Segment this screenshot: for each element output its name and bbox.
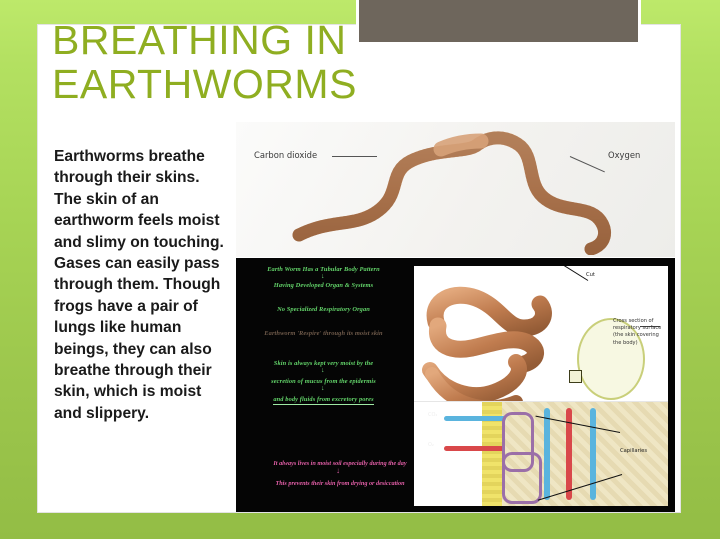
down-arrow-icon-2: ↓: [321, 368, 325, 373]
down-arrow-icon-4: ↓: [336, 468, 340, 474]
diagram-line-2: Having Developed Organ & Systems: [236, 282, 411, 289]
capillary-blue-1: [544, 408, 550, 500]
earthworm-illustration-top: [291, 127, 621, 255]
diagram-line-5: Skin is always kept very moist by the: [236, 360, 411, 367]
diagram-line-7: and body fluids from excretory pores: [236, 396, 411, 403]
oxygen-vessel-inbound: [444, 416, 506, 421]
presentation-slide: BREATHING IN EARTHWORMS Earthworms breat…: [0, 0, 720, 539]
earthworm-gas-exchange-image: Carbon dioxide Oxygen: [236, 122, 675, 257]
earthworm-respiration-diagram: Earth Worm Has a Tubular Body Pattern ↓ …: [236, 258, 675, 512]
magnified-region-marker: [569, 370, 582, 383]
diagram-pink-line-1: It always lives in moist soil especially…: [240, 460, 440, 467]
capillary-loop-2: [502, 452, 542, 504]
co2-label: CO₂: [428, 412, 437, 418]
down-arrow-icon-3: ↓: [321, 386, 325, 391]
capillary-blue-2: [590, 408, 596, 500]
down-arrow-icon-1: ↓: [321, 274, 325, 279]
respiration-inset-lower: CO₂ O₂ Capillaries: [414, 401, 668, 506]
capillaries-label: Capillaries: [620, 448, 647, 454]
diagram-line-3: No Specialized Respiratory Organ: [236, 306, 411, 313]
cross-section-label: Cross section of respiratory surface (th…: [613, 318, 665, 347]
body-paragraph: Earthworms breathe through their skins. …: [54, 146, 230, 424]
diagram-line-1: Earth Worm Has a Tubular Body Pattern: [236, 266, 411, 273]
cut-label: Cut: [586, 272, 595, 278]
diagram-pink-line-2: This prevents their skin from drying or …: [240, 480, 440, 487]
diagram-line-6: secretion of mucus from the epidermis: [236, 378, 411, 385]
grey-overlay-block: [356, 0, 641, 45]
diagram-line-4: Earthworm 'Respire' through its moist sk…: [236, 330, 411, 337]
carbon-dioxide-vessel-outbound: [444, 446, 504, 451]
o2-label: O₂: [428, 442, 434, 448]
